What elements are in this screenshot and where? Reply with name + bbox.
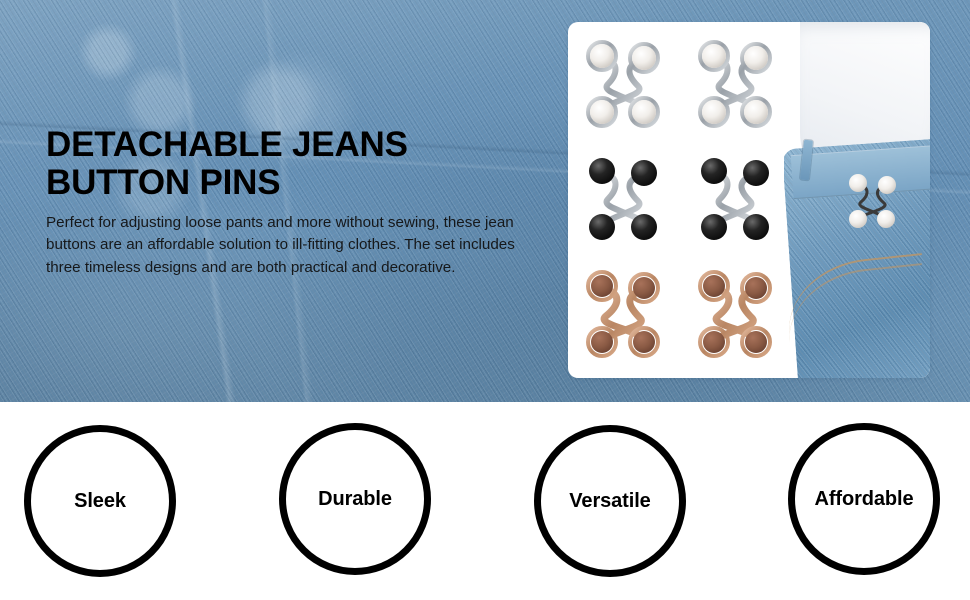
hero-copy: DETACHABLE JEANS BUTTON PINS Perfect for… [46, 126, 546, 279]
product-banner: DETACHABLE JEANS BUTTON PINS Perfect for… [0, 0, 970, 600]
button-pin-pearl-white-icon [576, 32, 672, 136]
button-pin-rose-gold-icon [688, 262, 784, 366]
feature-badge-label: Versatile [569, 490, 650, 513]
lifestyle-photo [784, 22, 930, 378]
feature-badge-versatile: Versatile [534, 425, 686, 577]
product-variant-grid [568, 22, 792, 378]
button-pin-pearl-white-icon [688, 32, 784, 136]
button-pin-black-crystal-icon [576, 147, 672, 251]
hero-section: DETACHABLE JEANS BUTTON PINS Perfect for… [0, 0, 970, 402]
feature-badge-label: Affordable [814, 488, 913, 511]
button-pin-rose-gold-icon [576, 262, 672, 366]
feature-badge-durable: Durable [279, 423, 431, 575]
worn-pearl-pin-icon [842, 168, 904, 234]
hero-description: Perfect for adjusting loose pants and mo… [46, 212, 538, 279]
feature-badge-label: Sleek [74, 490, 126, 513]
page-title: DETACHABLE JEANS BUTTON PINS [46, 126, 546, 202]
product-image-card [568, 22, 930, 378]
feature-badges: Sleek Durable Versatile Affordable [0, 402, 970, 600]
button-pin-black-crystal-icon [688, 147, 784, 251]
feature-badge-label: Durable [318, 488, 392, 511]
feature-badge-affordable: Affordable [788, 423, 940, 575]
feature-badge-sleek: Sleek [24, 425, 176, 577]
